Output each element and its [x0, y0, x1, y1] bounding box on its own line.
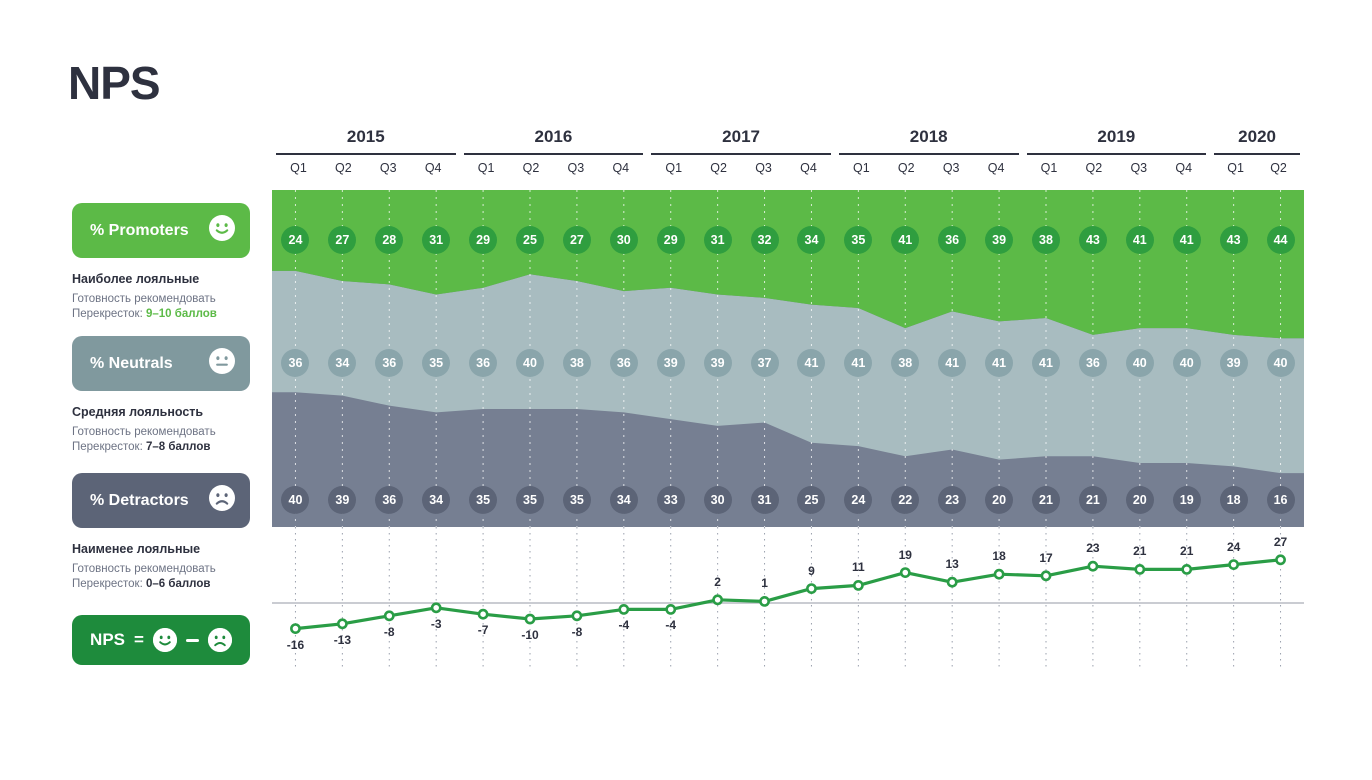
legend-pill-label: % Promoters — [90, 222, 189, 240]
year-rule — [276, 153, 456, 155]
quarter-label: Q1 — [276, 162, 321, 175]
quarter-label: Q1 — [839, 162, 884, 175]
quarter-label: Q4 — [974, 162, 1019, 175]
nps-data-label: -4 — [665, 618, 676, 632]
quarter-label: Q2 — [1071, 162, 1116, 175]
nps-data-label: -8 — [384, 625, 395, 639]
quarter-label: Q4 — [1161, 162, 1206, 175]
year-label: 2015 — [276, 128, 456, 153]
value-bubble-promoters: 43 — [1079, 226, 1107, 254]
value-bubble-detractors: 33 — [657, 486, 685, 514]
nps-data-point — [667, 605, 675, 613]
legend-caption-title: Средняя лояльность — [72, 404, 250, 421]
nps-data-point — [620, 605, 628, 613]
quarter-row: Q1Q2Q3Q4 — [464, 162, 644, 175]
timeline-header: 2015Q1Q2Q3Q42016Q1Q2Q3Q42017Q1Q2Q3Q42018… — [272, 128, 1304, 188]
nps-data-point — [995, 570, 1003, 578]
legend-pill-detractors[interactable]: % Detractors — [72, 473, 250, 528]
value-bubble-promoters: 25 — [516, 226, 544, 254]
quarter-label: Q2 — [1257, 162, 1300, 175]
nps-data-point — [573, 612, 581, 620]
value-bubble-detractors: 40 — [281, 486, 309, 514]
nps-data-label: 21 — [1180, 544, 1193, 558]
quarter-label: Q2 — [321, 162, 366, 175]
nps-data-label: 9 — [808, 564, 815, 578]
legend-caption-score-line: Перекресток: 7–8 баллов — [72, 440, 250, 455]
value-bubble-detractors: 24 — [844, 486, 872, 514]
frowning-face-icon — [208, 628, 232, 652]
value-bubble-neutrals: 41 — [1032, 349, 1060, 377]
value-bubble-promoters: 27 — [563, 226, 591, 254]
legend-pill-neutrals[interactable]: % Neutrals — [72, 336, 250, 391]
nps-line-chart: -16-13-8-3-7-10-8-4-42191119131817232121… — [272, 527, 1304, 707]
quarter-label: Q1 — [464, 162, 509, 175]
nps-data-label: 17 — [1039, 551, 1052, 565]
quarter-label: Q1 — [651, 162, 696, 175]
legend-caption-score: 7–8 баллов — [146, 441, 210, 453]
year-group-2019: 2019Q1Q2Q3Q4 — [1027, 128, 1207, 174]
value-bubble-neutrals: 38 — [563, 349, 591, 377]
quarter-label: Q2 — [509, 162, 554, 175]
legend-caption-detractors: Наименее лояльныеГотовность рекомендоват… — [72, 541, 250, 592]
value-bubble-promoters: 38 — [1032, 226, 1060, 254]
nps-data-point — [338, 620, 346, 628]
nps-data-label: 13 — [945, 557, 958, 571]
value-bubble-detractors: 31 — [751, 486, 779, 514]
value-bubble-detractors: 34 — [422, 486, 450, 514]
nps-data-label: 23 — [1086, 541, 1099, 555]
nps-data-label: -16 — [287, 638, 304, 652]
quarter-row: Q1Q2Q3Q4 — [276, 162, 456, 175]
value-bubble-detractors: 23 — [938, 486, 966, 514]
nps-data-label: -7 — [478, 623, 489, 637]
nps-data-point — [1089, 562, 1097, 570]
quarter-label: Q1 — [1027, 162, 1072, 175]
nps-data-label: 24 — [1227, 540, 1240, 554]
nps-line-path — [295, 560, 1280, 629]
nps-formula-badge: NPS = — [72, 615, 250, 665]
value-bubble-detractors: 20 — [1126, 486, 1154, 514]
value-bubble-promoters: 31 — [422, 226, 450, 254]
value-bubble-neutrals: 40 — [516, 349, 544, 377]
value-bubble-neutrals: 36 — [375, 349, 403, 377]
value-bubble-detractors: 21 — [1032, 486, 1060, 514]
nps-data-point — [526, 615, 534, 623]
value-bubble-detractors: 16 — [1267, 486, 1295, 514]
value-bubble-neutrals: 40 — [1267, 349, 1295, 377]
value-bubble-detractors: 35 — [563, 486, 591, 514]
neutral-face-icon — [209, 348, 235, 379]
nps-data-point — [807, 585, 815, 593]
value-bubble-promoters: 41 — [1126, 226, 1154, 254]
legend-caption-title: Наиболее лояльные — [72, 271, 250, 288]
value-bubble-neutrals: 40 — [1126, 349, 1154, 377]
value-bubble-promoters: 43 — [1220, 226, 1248, 254]
value-bubble-detractors: 25 — [797, 486, 825, 514]
quarter-label: Q3 — [929, 162, 974, 175]
quarter-row: Q1Q2Q3Q4 — [839, 162, 1019, 175]
value-bubble-neutrals: 34 — [328, 349, 356, 377]
legend-caption-title: Наименее лояльные — [72, 541, 250, 558]
nps-formula-equals: = — [134, 630, 144, 650]
smiling-face-icon — [209, 215, 235, 246]
value-bubble-neutrals: 39 — [657, 349, 685, 377]
quarter-label: Q4 — [786, 162, 831, 175]
value-bubble-promoters: 27 — [328, 226, 356, 254]
nps-data-label: -4 — [618, 618, 629, 632]
minus-sign-icon — [186, 639, 199, 642]
value-bubble-neutrals: 36 — [610, 349, 638, 377]
value-bubble-neutrals: 38 — [891, 349, 919, 377]
nps-data-point — [1136, 565, 1144, 573]
quarter-label: Q4 — [598, 162, 643, 175]
value-bubble-promoters: 36 — [938, 226, 966, 254]
value-bubble-neutrals: 36 — [1079, 349, 1107, 377]
value-bubble-neutrals: 41 — [844, 349, 872, 377]
year-group-2016: 2016Q1Q2Q3Q4 — [464, 128, 644, 174]
legend-caption-score-line: Перекресток: 9–10 баллов — [72, 307, 250, 322]
legend-caption-promoters: Наиболее лояльныеГотовность рекомендоват… — [72, 271, 250, 322]
quarter-label: Q1 — [1214, 162, 1257, 175]
quarter-row: Q1Q2 — [1214, 162, 1300, 175]
legend-caption-score: 9–10 баллов — [146, 308, 217, 320]
quarter-label: Q4 — [411, 162, 456, 175]
nps-data-label: 11 — [852, 560, 865, 574]
year-label: 2018 — [839, 128, 1019, 153]
nps-data-point — [854, 581, 862, 589]
value-bubble-neutrals: 36 — [281, 349, 309, 377]
year-label: 2020 — [1214, 128, 1300, 153]
value-bubble-detractors: 39 — [328, 486, 356, 514]
year-group-2018: 2018Q1Q2Q3Q4 — [839, 128, 1019, 174]
nps-data-point — [714, 596, 722, 604]
value-bubble-detractors: 35 — [469, 486, 497, 514]
year-group-2017: 2017Q1Q2Q3Q4 — [651, 128, 831, 174]
nps-data-point — [1276, 556, 1284, 564]
nps-data-label: -8 — [572, 625, 583, 639]
nps-data-point — [901, 569, 909, 577]
nps-data-point — [760, 597, 768, 605]
value-bubble-detractors: 18 — [1220, 486, 1248, 514]
year-rule — [1027, 153, 1207, 155]
stacked-area-chart: 2427283129252730293132343541363938434141… — [272, 190, 1304, 527]
year-label: 2017 — [651, 128, 831, 153]
nps-data-label: 27 — [1274, 535, 1287, 549]
nps-data-label: 18 — [992, 549, 1005, 563]
legend-pill-promoters[interactable]: % Promoters — [72, 203, 250, 258]
value-bubble-detractors: 21 — [1079, 486, 1107, 514]
quarter-label: Q3 — [553, 162, 598, 175]
quarter-label: Q2 — [884, 162, 929, 175]
value-bubble-promoters: 29 — [469, 226, 497, 254]
nps-data-label: 2 — [714, 575, 721, 589]
legend-pill-label: % Neutrals — [90, 355, 173, 373]
value-bubble-promoters: 24 — [281, 226, 309, 254]
value-bubble-promoters: 34 — [797, 226, 825, 254]
legend-group-promoters: % PromotersНаиболее лояльныеГотовность р… — [72, 203, 250, 322]
value-bubble-neutrals: 41 — [797, 349, 825, 377]
quarter-label: Q3 — [366, 162, 411, 175]
legend-caption-neutrals: Средняя лояльностьГотовность рекомендова… — [72, 404, 250, 455]
page-title: NPS — [68, 60, 160, 106]
legend-group-detractors: % DetractorsНаименее лояльныеГотовность … — [72, 473, 250, 592]
year-rule — [464, 153, 644, 155]
nps-data-point — [432, 604, 440, 612]
value-bubble-neutrals: 41 — [938, 349, 966, 377]
legend-group-neutrals: % NeutralsСредняя лояльностьГотовность р… — [72, 336, 250, 455]
year-rule — [1214, 153, 1300, 155]
smiling-face-icon — [153, 628, 177, 652]
value-bubble-promoters: 31 — [704, 226, 732, 254]
value-bubble-neutrals: 36 — [469, 349, 497, 377]
nps-data-label: -3 — [431, 617, 442, 631]
nps-data-point — [479, 610, 487, 618]
year-group-2020: 2020Q1Q2 — [1214, 128, 1300, 174]
legend-caption-line: Готовность рекомендовать — [72, 292, 250, 307]
value-bubble-promoters: 30 — [610, 226, 638, 254]
nps-data-point — [1042, 572, 1050, 580]
nps-data-label: -10 — [521, 628, 538, 642]
nps-data-point — [385, 612, 393, 620]
value-bubble-detractors: 36 — [375, 486, 403, 514]
value-bubble-neutrals: 37 — [751, 349, 779, 377]
quarter-label: Q3 — [741, 162, 786, 175]
value-bubble-neutrals: 41 — [985, 349, 1013, 377]
nps-data-label: 1 — [761, 576, 768, 590]
value-bubble-detractors: 22 — [891, 486, 919, 514]
nps-data-point — [1183, 565, 1191, 573]
value-bubble-detractors: 30 — [704, 486, 732, 514]
nps-formula-label: NPS — [90, 630, 125, 650]
value-bubble-detractors: 19 — [1173, 486, 1201, 514]
quarter-label: Q2 — [696, 162, 741, 175]
nps-data-point — [291, 625, 299, 633]
value-bubble-promoters: 28 — [375, 226, 403, 254]
year-rule — [839, 153, 1019, 155]
nps-data-point — [1230, 561, 1238, 569]
value-bubble-neutrals: 35 — [422, 349, 450, 377]
value-bubble-promoters: 32 — [751, 226, 779, 254]
value-bubble-promoters: 44 — [1267, 226, 1295, 254]
quarter-row: Q1Q2Q3Q4 — [651, 162, 831, 175]
quarter-label: Q3 — [1116, 162, 1161, 175]
nps-data-label: -13 — [334, 633, 351, 647]
legend-caption-score-line: Перекресток: 0–6 баллов — [72, 577, 250, 592]
value-bubble-promoters: 35 — [844, 226, 872, 254]
nps-data-point — [948, 578, 956, 586]
legend-caption-line: Готовность рекомендовать — [72, 562, 250, 577]
nps-data-label: 19 — [899, 548, 912, 562]
year-group-2015: 2015Q1Q2Q3Q4 — [276, 128, 456, 174]
legend-pill-label: % Detractors — [90, 492, 189, 510]
quarter-row: Q1Q2Q3Q4 — [1027, 162, 1207, 175]
legend-caption-score: 0–6 баллов — [146, 578, 210, 590]
frowning-face-icon — [209, 485, 235, 516]
value-bubble-promoters: 41 — [891, 226, 919, 254]
legend-caption-line: Готовность рекомендовать — [72, 425, 250, 440]
value-bubble-neutrals: 39 — [704, 349, 732, 377]
value-bubble-promoters: 41 — [1173, 226, 1201, 254]
year-label: 2016 — [464, 128, 644, 153]
nps-data-label: 21 — [1133, 544, 1146, 558]
year-rule — [651, 153, 831, 155]
value-bubble-detractors: 20 — [985, 486, 1013, 514]
value-bubble-detractors: 34 — [610, 486, 638, 514]
value-bubble-promoters: 29 — [657, 226, 685, 254]
value-bubble-neutrals: 40 — [1173, 349, 1201, 377]
year-label: 2019 — [1027, 128, 1207, 153]
value-bubble-neutrals: 39 — [1220, 349, 1248, 377]
value-bubble-promoters: 39 — [985, 226, 1013, 254]
value-bubble-detractors: 35 — [516, 486, 544, 514]
